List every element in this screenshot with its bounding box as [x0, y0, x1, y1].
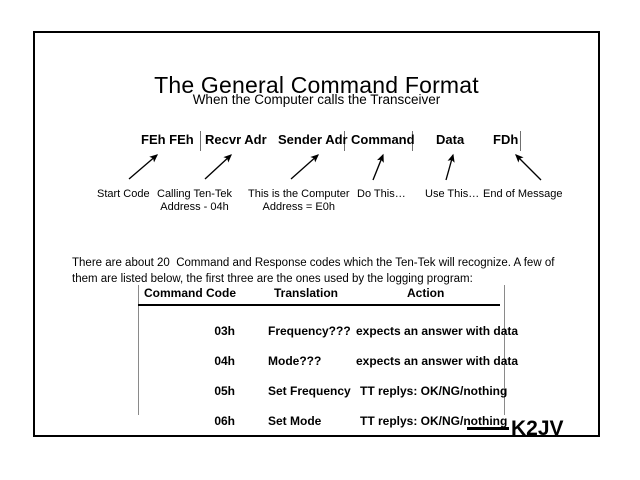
cell-command-code: 04h	[138, 353, 235, 369]
callout-line: Address = E0h	[248, 201, 349, 214]
packet-field-sender-adr: Sender Adr	[278, 130, 348, 150]
command-code-table: Command Code Translation Action 03h Freq…	[138, 285, 505, 415]
packet-divider-1	[200, 131, 201, 151]
cell-translation: Set Mode	[268, 413, 321, 429]
callsign-rule	[467, 427, 509, 430]
arrow-data	[446, 155, 453, 180]
packet-format-strip: FEh FEhRecvr AdrSender AdrCommandDataFDh	[35, 130, 598, 152]
callout-data: Use This…	[425, 188, 479, 201]
table-header-rule	[138, 304, 500, 306]
table-row: 03h Frequency??? expects an answer with …	[138, 323, 504, 341]
table-row: 04h Mode??? expects an answer with data	[138, 353, 504, 371]
table-header-action: Action	[407, 286, 444, 300]
table-row: 05h Set Frequency TT replys: OK/NG/nothi…	[138, 383, 504, 401]
cell-action: TT replys: OK/NG/nothing	[360, 383, 507, 399]
cell-translation: Frequency???	[268, 323, 351, 339]
table-header-translation: Translation	[274, 286, 338, 300]
callout-line: Do This…	[357, 188, 406, 201]
packet-field-fdh: FDh	[493, 130, 518, 150]
callout-line: Use This…	[425, 188, 479, 201]
cell-command-code: 03h	[138, 323, 235, 339]
cell-action: expects an answer with data	[356, 323, 518, 339]
arrow-recvr-adr	[205, 155, 231, 179]
table-row: 06h Set Mode TT replys: OK/NG/nothing	[138, 413, 504, 431]
packet-field-command: Command	[351, 130, 415, 150]
packet-divider-4	[520, 131, 521, 151]
cell-command-code: 06h	[138, 413, 235, 429]
arrow-start-code	[129, 155, 157, 179]
cell-translation: Set Frequency	[268, 383, 351, 399]
packet-field-data: Data	[436, 130, 464, 150]
callout-recvr-adr: Calling Ten-TekAddress - 04h	[157, 188, 232, 213]
cell-command-code: 05h	[138, 383, 235, 399]
callout-line: Address - 04h	[157, 201, 232, 214]
callout-line: Calling Ten-Tek	[157, 188, 232, 201]
intro-paragraph: There are about 20 Command and Response …	[72, 255, 572, 287]
arrow-sender-adr	[291, 155, 318, 179]
callout-sender-adr: This is the ComputerAddress = E0h	[248, 188, 349, 213]
callsign-logo: K2JV	[511, 417, 564, 441]
arrow-fdh	[516, 155, 541, 180]
callout-line: Start Code	[97, 188, 150, 201]
callout-command: Do This…	[357, 188, 406, 201]
callout-line: This is the Computer	[248, 188, 349, 201]
arrow-command	[373, 155, 383, 180]
packet-field-recvr-adr: Recvr Adr	[205, 130, 267, 150]
packet-field-feh-feh: FEh FEh	[141, 130, 194, 150]
callout-feh-feh: Start Code	[97, 188, 150, 201]
cell-action: expects an answer with data	[356, 353, 518, 369]
slide-frame: The General Command Format When the Comp…	[33, 31, 600, 437]
callout-fdh: End of Message	[483, 188, 563, 201]
table-header-command-code: Command Code	[144, 286, 236, 300]
callout-line: End of Message	[483, 188, 563, 201]
cell-translation: Mode???	[268, 353, 321, 369]
page-subtitle: When the Computer calls the Transceiver	[35, 93, 598, 108]
